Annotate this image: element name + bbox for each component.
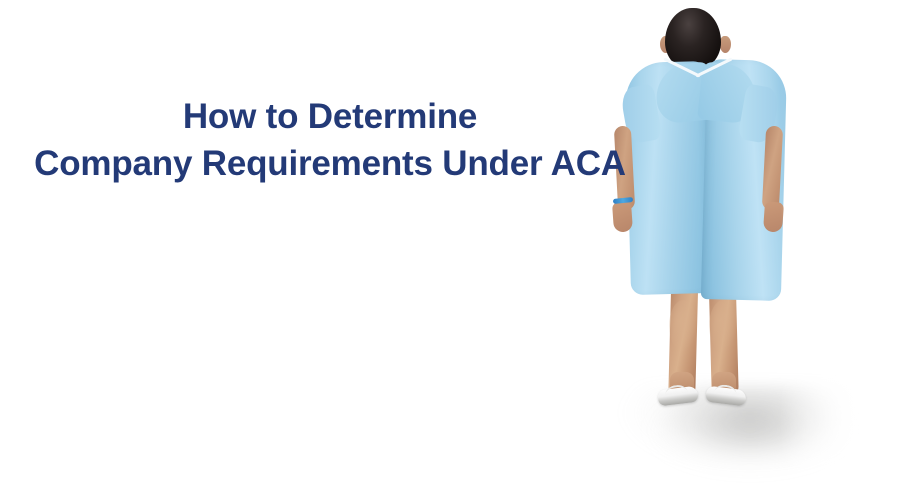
headline-line-2: Company Requirements Under ACA: [0, 143, 660, 184]
page-title: How to Determine Company Requirements Un…: [0, 96, 660, 185]
ear-right: [720, 36, 731, 53]
floor-shadow-inner: [635, 400, 865, 495]
headline-line-1: How to Determine: [0, 96, 660, 137]
banner: How to Determine Company Requirements Un…: [0, 0, 900, 500]
hand-right: [763, 201, 784, 232]
hand-left: [612, 201, 633, 232]
calf-right: [709, 300, 738, 352]
calf-left: [669, 300, 698, 352]
hero-photo: [600, 0, 900, 500]
